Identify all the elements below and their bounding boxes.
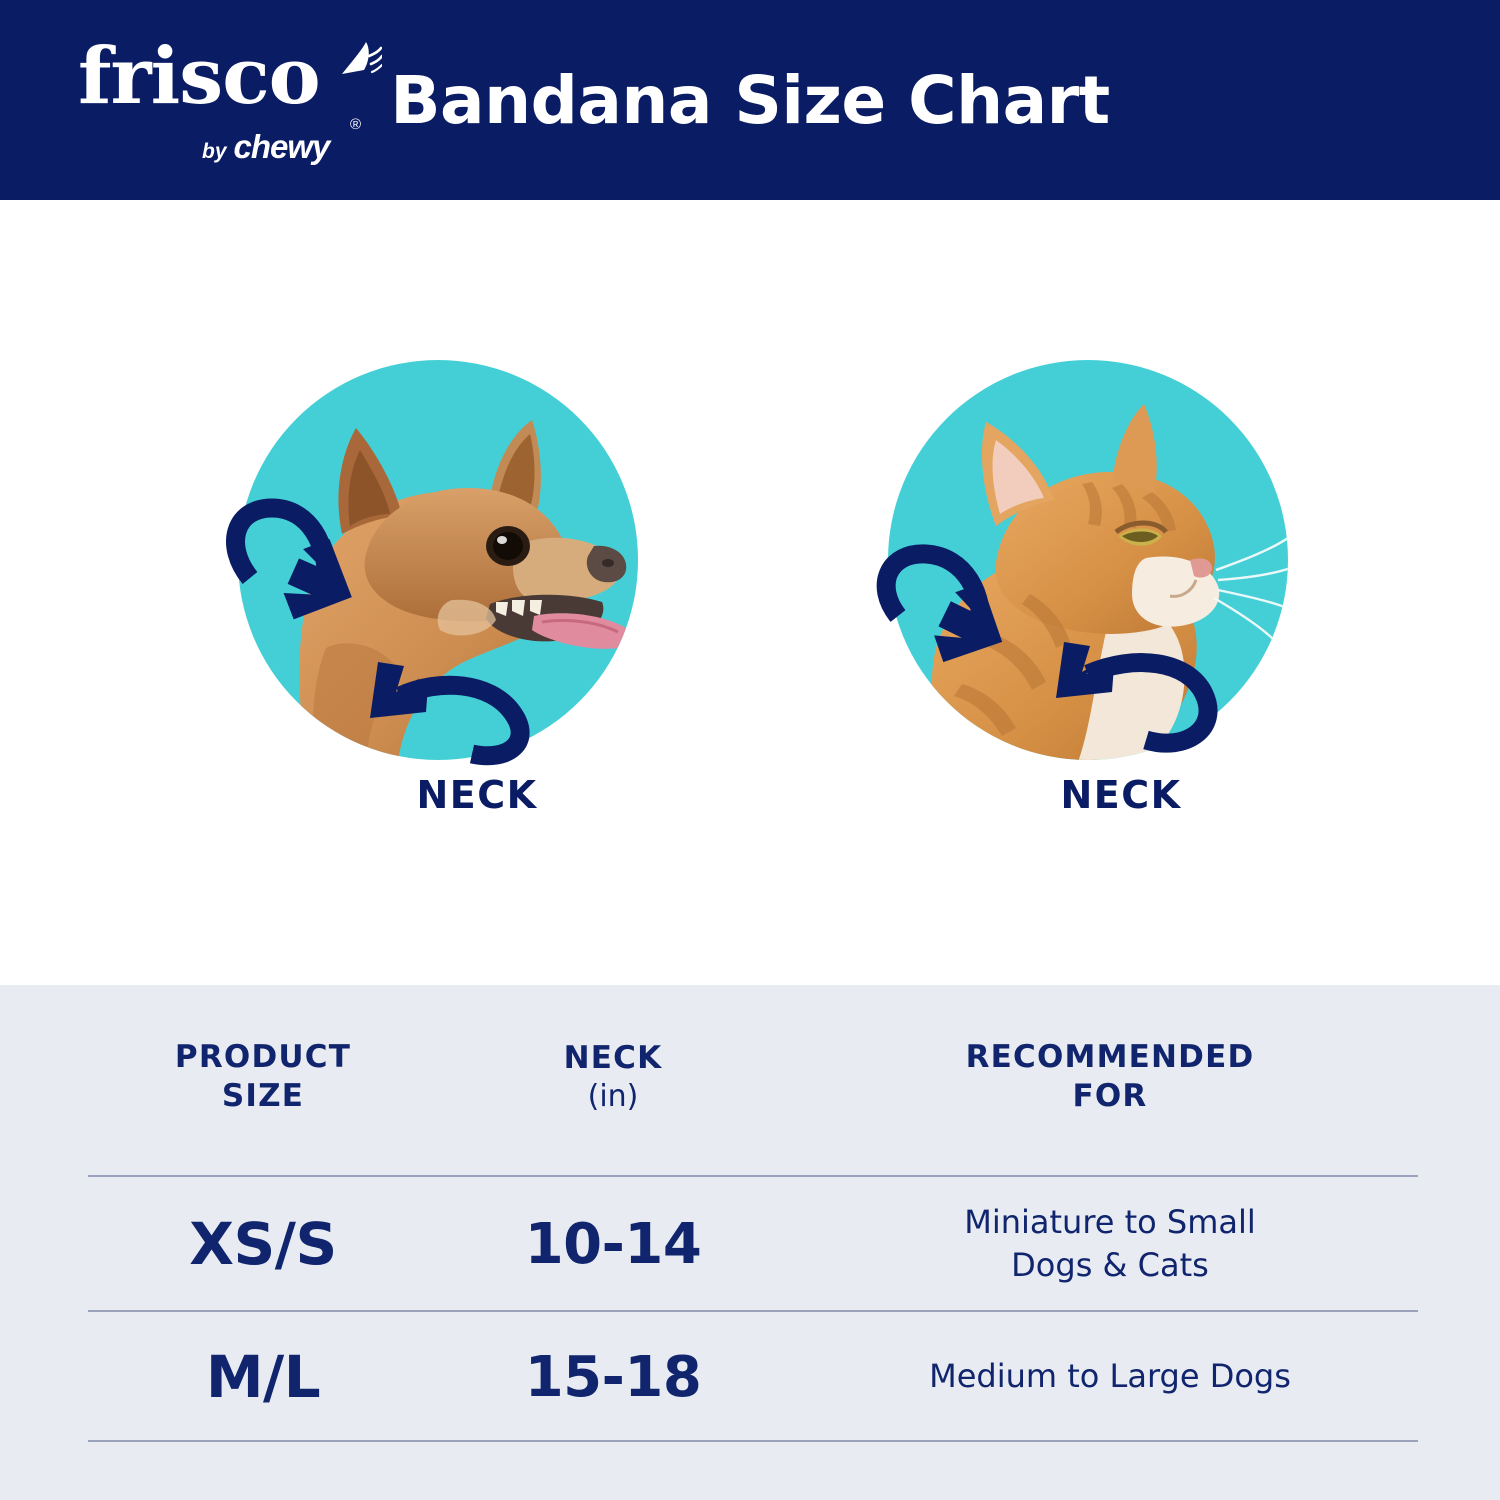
- cell-size: M/L: [88, 1343, 438, 1411]
- table-divider-middle: [88, 1310, 1418, 1312]
- table-divider-bottom: [88, 1440, 1418, 1442]
- dog-measurement-illustration: NECK: [190, 348, 670, 848]
- table-row: M/L 15-18 Medium to Large Dogs: [0, 1315, 1500, 1439]
- cell-recommended-for: Medium to Large Dogs: [855, 1355, 1365, 1398]
- page-header: frisco ® by chewy Bandana Size Chart: [0, 0, 1500, 200]
- cat-measurement-illustration: NECK: [840, 348, 1320, 848]
- cell-neck: 15-18: [438, 1345, 788, 1410]
- cat-photo-with-neck-arrows: [840, 348, 1320, 788]
- column-header-neck: NECK (in): [438, 1039, 788, 1115]
- cell-recommended-for: Miniature to Small Dogs & Cats: [855, 1201, 1365, 1287]
- dog-photo-with-neck-arrows: [190, 348, 670, 788]
- cat-neck-label: NECK: [881, 773, 1361, 817]
- size-chart-page: frisco ® by chewy Bandana Size Chart: [0, 0, 1500, 1500]
- column-header-recommended-for: RECOMMENDED FOR: [855, 1038, 1365, 1116]
- table-row: XS/S 10-14 Miniature to Small Dogs & Cat…: [0, 1180, 1500, 1308]
- cell-neck: 10-14: [438, 1212, 788, 1277]
- cell-size: XS/S: [88, 1210, 438, 1278]
- page-title: Bandana Size Chart: [0, 0, 1500, 200]
- column-header-product-size: PRODUCT SIZE: [88, 1038, 438, 1116]
- size-table: PRODUCT SIZE NECK (in) RECOMMENDED FOR X…: [0, 985, 1500, 1500]
- table-divider-top: [88, 1175, 1418, 1177]
- table-header-row: PRODUCT SIZE NECK (in) RECOMMENDED FOR: [0, 1017, 1500, 1137]
- illustration-section: NECK: [0, 200, 1500, 985]
- dog-neck-label: NECK: [237, 773, 717, 817]
